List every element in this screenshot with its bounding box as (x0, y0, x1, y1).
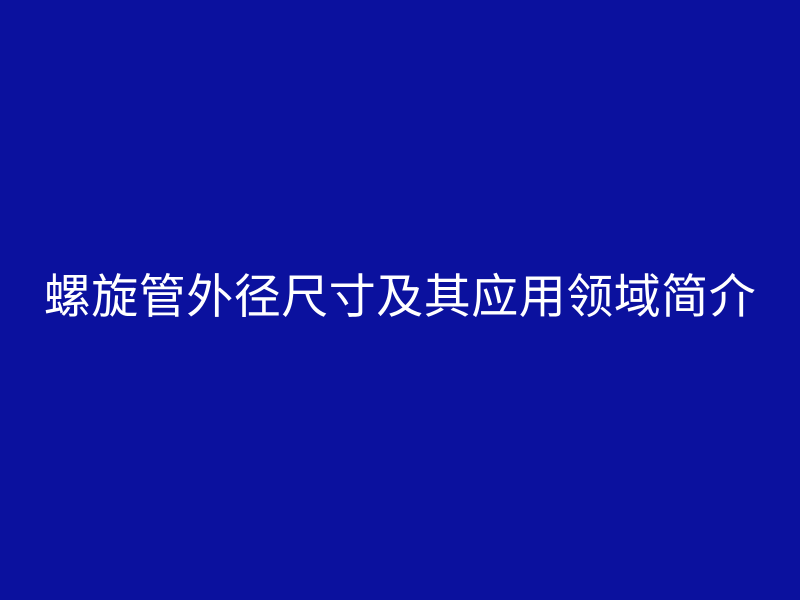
slide-title: 螺旋管外径尺寸及其应用领域简介 (44, 273, 757, 323)
title-slide: 螺旋管外径尺寸及其应用领域简介 (0, 0, 800, 600)
slide-canvas: 螺旋管外径尺寸及其应用领域简介 (0, 0, 800, 600)
title-block: 螺旋管外径尺寸及其应用领域简介 (0, 258, 800, 338)
